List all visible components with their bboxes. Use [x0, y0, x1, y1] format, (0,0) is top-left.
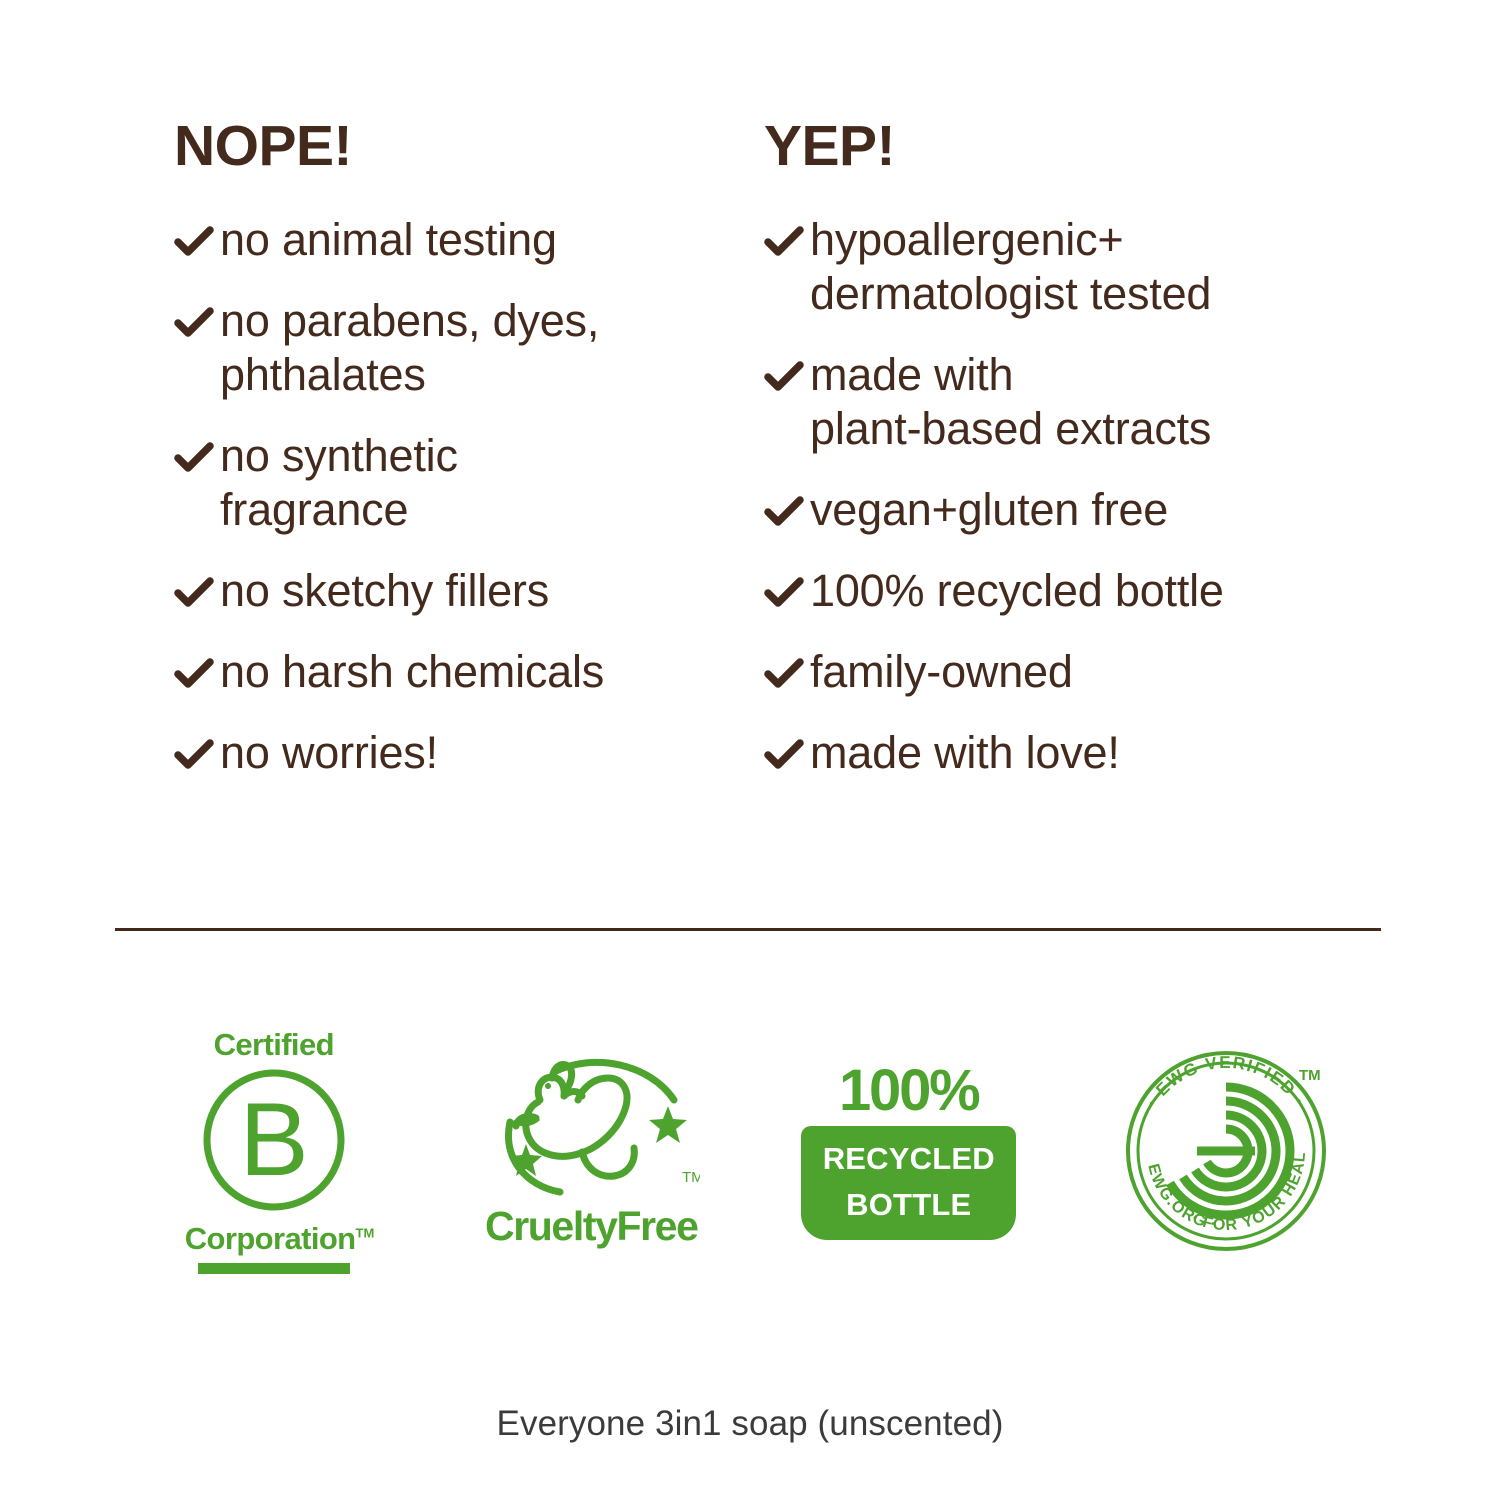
- list-item-label: vegan+gluten free: [810, 483, 1168, 537]
- yep-list: hypoallergenic+ dermatologist tested mad…: [762, 213, 1382, 780]
- list-item: no synthetic fragrance: [172, 429, 762, 537]
- list-item-label: no harsh chemicals: [220, 645, 604, 699]
- badge-b-corporation: Certified B CorporationTM: [115, 1020, 433, 1282]
- list-item-label: no parabens, dyes, phthalates: [220, 294, 599, 402]
- list-item-label: made with love!: [810, 726, 1120, 780]
- product-caption: Everyone 3in1 soap (unscented): [0, 1404, 1500, 1444]
- svg-text:TM: TM: [682, 1169, 700, 1186]
- section-divider: [115, 928, 1381, 931]
- svg-text:· EWG VERIFIED ·: · EWG VERIFIED ·: [1143, 1053, 1310, 1110]
- bunny-swoosh-mark: TM: [482, 1056, 700, 1204]
- list-item: no parabens, dyes, phthalates: [172, 294, 762, 402]
- badge-ewg-verified: · EWG VERIFIED · EWG.ORG · · FOR YOUR HE…: [1068, 1020, 1386, 1282]
- list-item: vegan+gluten free: [762, 483, 1382, 537]
- list-item-label: hypoallergenic+ dermatologist tested: [810, 213, 1211, 321]
- checkmark-icon: [762, 570, 806, 614]
- leaping-bunny-icon: TM CrueltyFree: [476, 1056, 706, 1247]
- trademark-icon: TM: [356, 1225, 375, 1240]
- badge-cruelty-free: TM CrueltyFree: [433, 1020, 751, 1282]
- column-title-nope: NOPE!: [172, 118, 762, 175]
- ewg-verified-icon: · EWG VERIFIED · EWG.ORG · · FOR YOUR HE…: [1121, 1046, 1331, 1256]
- recycled-percent-label: 100%: [801, 1062, 1016, 1120]
- checkmark-icon: [762, 489, 806, 533]
- checkmark-icon: [172, 570, 216, 614]
- trademark-icon: TM: [1299, 1067, 1321, 1084]
- badge-recycled-bottle: 100% RECYCLED BOTTLE: [750, 1020, 1068, 1282]
- recycled-line1-label: RECYCLED: [811, 1143, 1006, 1176]
- list-item: made with plant-based extracts: [762, 348, 1382, 456]
- list-item: no worries!: [172, 726, 762, 780]
- list-item-label: 100% recycled bottle: [810, 564, 1224, 618]
- feature-columns: NOPE! no animal testing no parabens, dye…: [0, 118, 1500, 780]
- list-item-label: no animal testing: [220, 213, 557, 267]
- checkmark-icon: [172, 300, 216, 344]
- recycled-bottle-box: RECYCLED BOTTLE: [801, 1126, 1016, 1239]
- nope-list: no animal testing no parabens, dyes, pht…: [172, 213, 762, 780]
- b-corp-top-label: Certified: [185, 1029, 363, 1060]
- list-item: no harsh chemicals: [172, 645, 762, 699]
- b-corp-bottom-text: Corporation: [185, 1221, 356, 1256]
- cruelty-free-label: CrueltyFree: [476, 1206, 706, 1247]
- checkmark-icon: [762, 219, 806, 263]
- list-item-label: no worries!: [220, 726, 438, 780]
- column-nope: NOPE! no animal testing no parabens, dye…: [172, 118, 762, 780]
- svg-text:B: B: [239, 1082, 308, 1198]
- checkmark-icon: [172, 219, 216, 263]
- checkmark-icon: [762, 732, 806, 776]
- recycled-line2-label: BOTTLE: [811, 1189, 1006, 1222]
- list-item-label: family-owned: [810, 645, 1073, 699]
- ewg-seal-mark: · EWG VERIFIED · EWG.ORG · · FOR YOUR HE…: [1121, 1046, 1331, 1256]
- b-corp-underline: [198, 1263, 350, 1274]
- checkmark-icon: [762, 354, 806, 398]
- certification-badges: Certified B CorporationTM: [115, 1020, 1385, 1282]
- checkmark-icon: [172, 732, 216, 776]
- list-item: no sketchy fillers: [172, 564, 762, 618]
- checkmark-icon: [762, 651, 806, 695]
- b-corp-bottom-label: CorporationTM: [185, 1223, 375, 1254]
- list-item-label: no sketchy fillers: [220, 564, 549, 618]
- b-corp-ring-mark: B: [199, 1065, 349, 1215]
- checkmark-icon: [172, 435, 216, 479]
- list-item-label: no synthetic fragrance: [220, 429, 458, 537]
- list-item: family-owned: [762, 645, 1382, 699]
- list-item: no animal testing: [172, 213, 762, 267]
- checkmark-icon: [172, 651, 216, 695]
- list-item-label: made with plant-based extracts: [810, 348, 1211, 456]
- column-yep: YEP! hypoallergenic+ dermatologist teste…: [762, 118, 1382, 780]
- recycled-bottle-icon: 100% RECYCLED BOTTLE: [801, 1062, 1016, 1239]
- list-item: hypoallergenic+ dermatologist tested: [762, 213, 1382, 321]
- column-title-yep: YEP!: [762, 118, 1382, 175]
- b-corp-icon: Certified B CorporationTM: [185, 1029, 363, 1274]
- list-item: 100% recycled bottle: [762, 564, 1382, 618]
- list-item: made with love!: [762, 726, 1382, 780]
